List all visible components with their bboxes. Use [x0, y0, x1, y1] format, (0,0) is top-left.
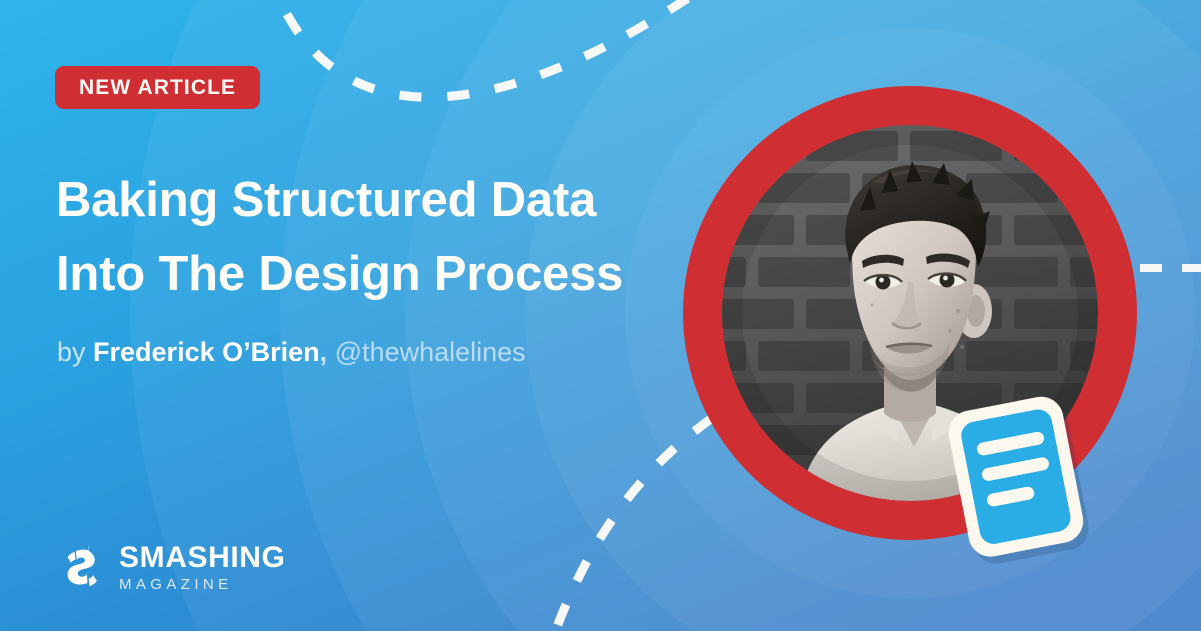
- title-line-1: Baking Structured Data: [56, 163, 696, 237]
- title-line-2: Into The Design Process: [56, 237, 696, 311]
- document-icon: [941, 392, 1099, 572]
- dashed-arc-top: [268, 0, 700, 97]
- badge-label: NEW ARTICLE: [79, 77, 236, 98]
- smashing-magazine-logo[interactable]: SMASHING MAGAZINE: [58, 543, 285, 595]
- logo-submark: MAGAZINE: [119, 573, 285, 595]
- byline-social-handle[interactable]: @thewhalelines: [335, 337, 526, 367]
- logo-wordmark: SMASHING: [119, 543, 285, 573]
- smashing-cat-s-mark: [58, 543, 106, 595]
- page-title: Baking Structured Data Into The Design P…: [56, 163, 696, 311]
- byline-author-name[interactable]: Frederick O’Brien: [93, 337, 320, 367]
- logo-wordmark-block: SMASHING MAGAZINE: [119, 543, 285, 595]
- new-article-badge[interactable]: NEW ARTICLE: [55, 66, 260, 109]
- article-share-card: NEW ARTICLE Baking Structured Data Into …: [0, 0, 1201, 631]
- byline: by Frederick O’Brien, @thewhalelines: [57, 335, 526, 369]
- byline-separator: ,: [320, 337, 335, 367]
- byline-prefix: by: [57, 337, 93, 367]
